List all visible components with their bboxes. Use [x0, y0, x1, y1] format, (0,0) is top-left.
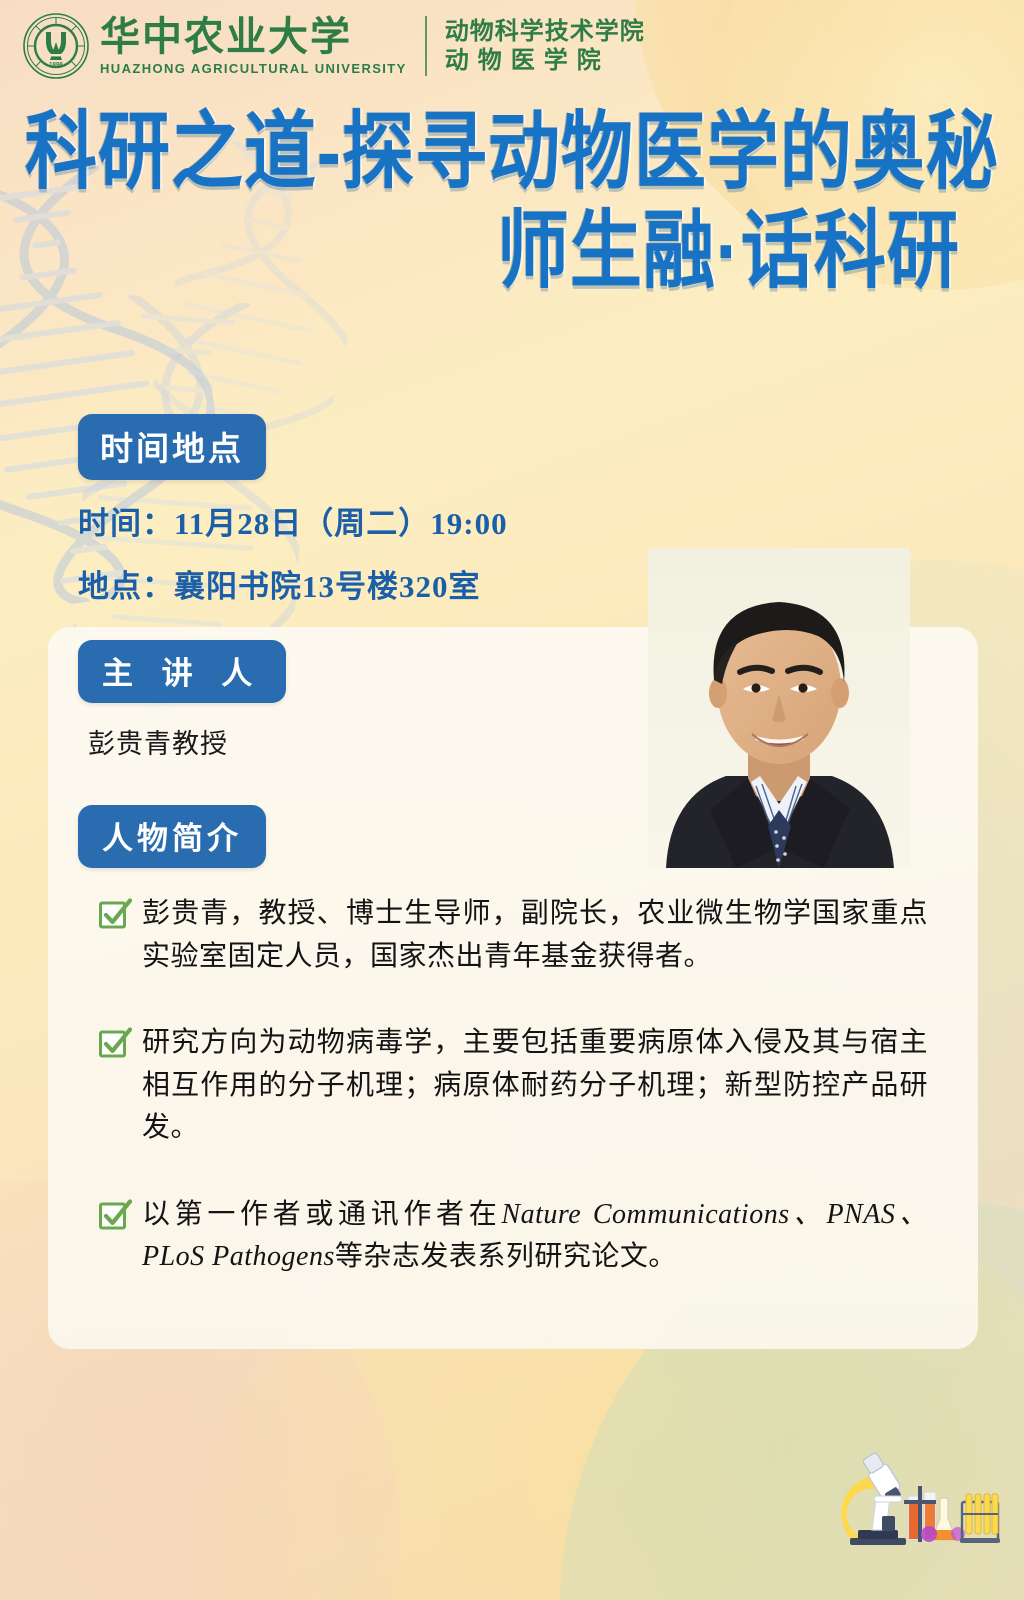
time-place-badge: 时间地点 [78, 414, 266, 480]
college-line-2: 动物医学院 [445, 46, 645, 75]
speaker-portrait [648, 548, 910, 868]
event-place: 地点：襄阳书院13号楼320室 [78, 561, 508, 606]
speaker-name: 彭贵青教授 [88, 722, 228, 761]
bio-bullet-item: 以第一作者或通讯作者在Nature Communications、PNAS、PL… [98, 1194, 928, 1279]
bio-bullet-item: 研究方向为动物病毒学，主要包括重要病原体入侵及其与宿主相互作用的分子机理；病原体… [98, 1022, 928, 1150]
bio-bullet-text: 彭贵青，教授、博士生导师，副院长，农业微生物学国家重点实验室固定人员，国家杰出青… [142, 893, 928, 978]
checkbox-checked-icon [98, 1026, 132, 1060]
laboratory-microscope-icon [832, 1442, 1002, 1562]
bio-bullet-item: 彭贵青，教授、博士生导师，副院长，农业微生物学国家重点实验室固定人员，国家杰出青… [98, 893, 928, 978]
college-line-1: 动物科学技术学院 [445, 17, 645, 46]
bio-bullet-text: 研究方向为动物病毒学，主要包括重要病原体入侵及其与宿主相互作用的分子机理；病原体… [142, 1022, 928, 1150]
bio-bullet-text: 以第一作者或通讯作者在Nature Communications、PNAS、PL… [142, 1194, 928, 1279]
university-name-en: HUAZHONG AGRICULTURAL UNIVERSITY [100, 61, 407, 76]
event-time: 时间：11月28日（周二）19:00 [78, 498, 508, 543]
time-place-section: 时间地点 时间：11月28日（周二）19:00 地点：襄阳书院13号楼320室 [78, 414, 508, 606]
header-divider [425, 16, 427, 76]
title-line-2: 师生融·话科研 [0, 209, 1024, 296]
svg-text:1898: 1898 [49, 62, 63, 69]
speaker-badge: 主 讲 人 [78, 640, 286, 703]
poster-header: 1898 华中农业大学 HUAZHONG AGRICULTURAL UNIVER… [0, 0, 1024, 92]
bio-bullet-list: 彭贵青，教授、博士生导师，副院长，农业微生物学国家重点实验室固定人员，国家杰出青… [98, 893, 928, 1323]
college-name-block: 动物科学技术学院 动物医学院 [445, 17, 645, 76]
poster-root: 1898 华中农业大学 HUAZHONG AGRICULTURAL UNIVER… [0, 0, 1024, 1600]
poster-title: 科研之道-探寻动物医学的奥秘 师生融·话科研 [0, 110, 1024, 283]
title-line-1: 科研之道-探寻动物医学的奥秘 [0, 110, 1024, 197]
university-seal-icon: 1898 [22, 12, 90, 80]
checkbox-checked-icon [98, 897, 132, 931]
bio-badge: 人物简介 [78, 805, 266, 868]
university-name-cn: 华中农业大学 [100, 17, 407, 57]
checkbox-checked-icon [98, 1198, 132, 1232]
university-name-block: 华中农业大学 HUAZHONG AGRICULTURAL UNIVERSITY [100, 17, 407, 76]
